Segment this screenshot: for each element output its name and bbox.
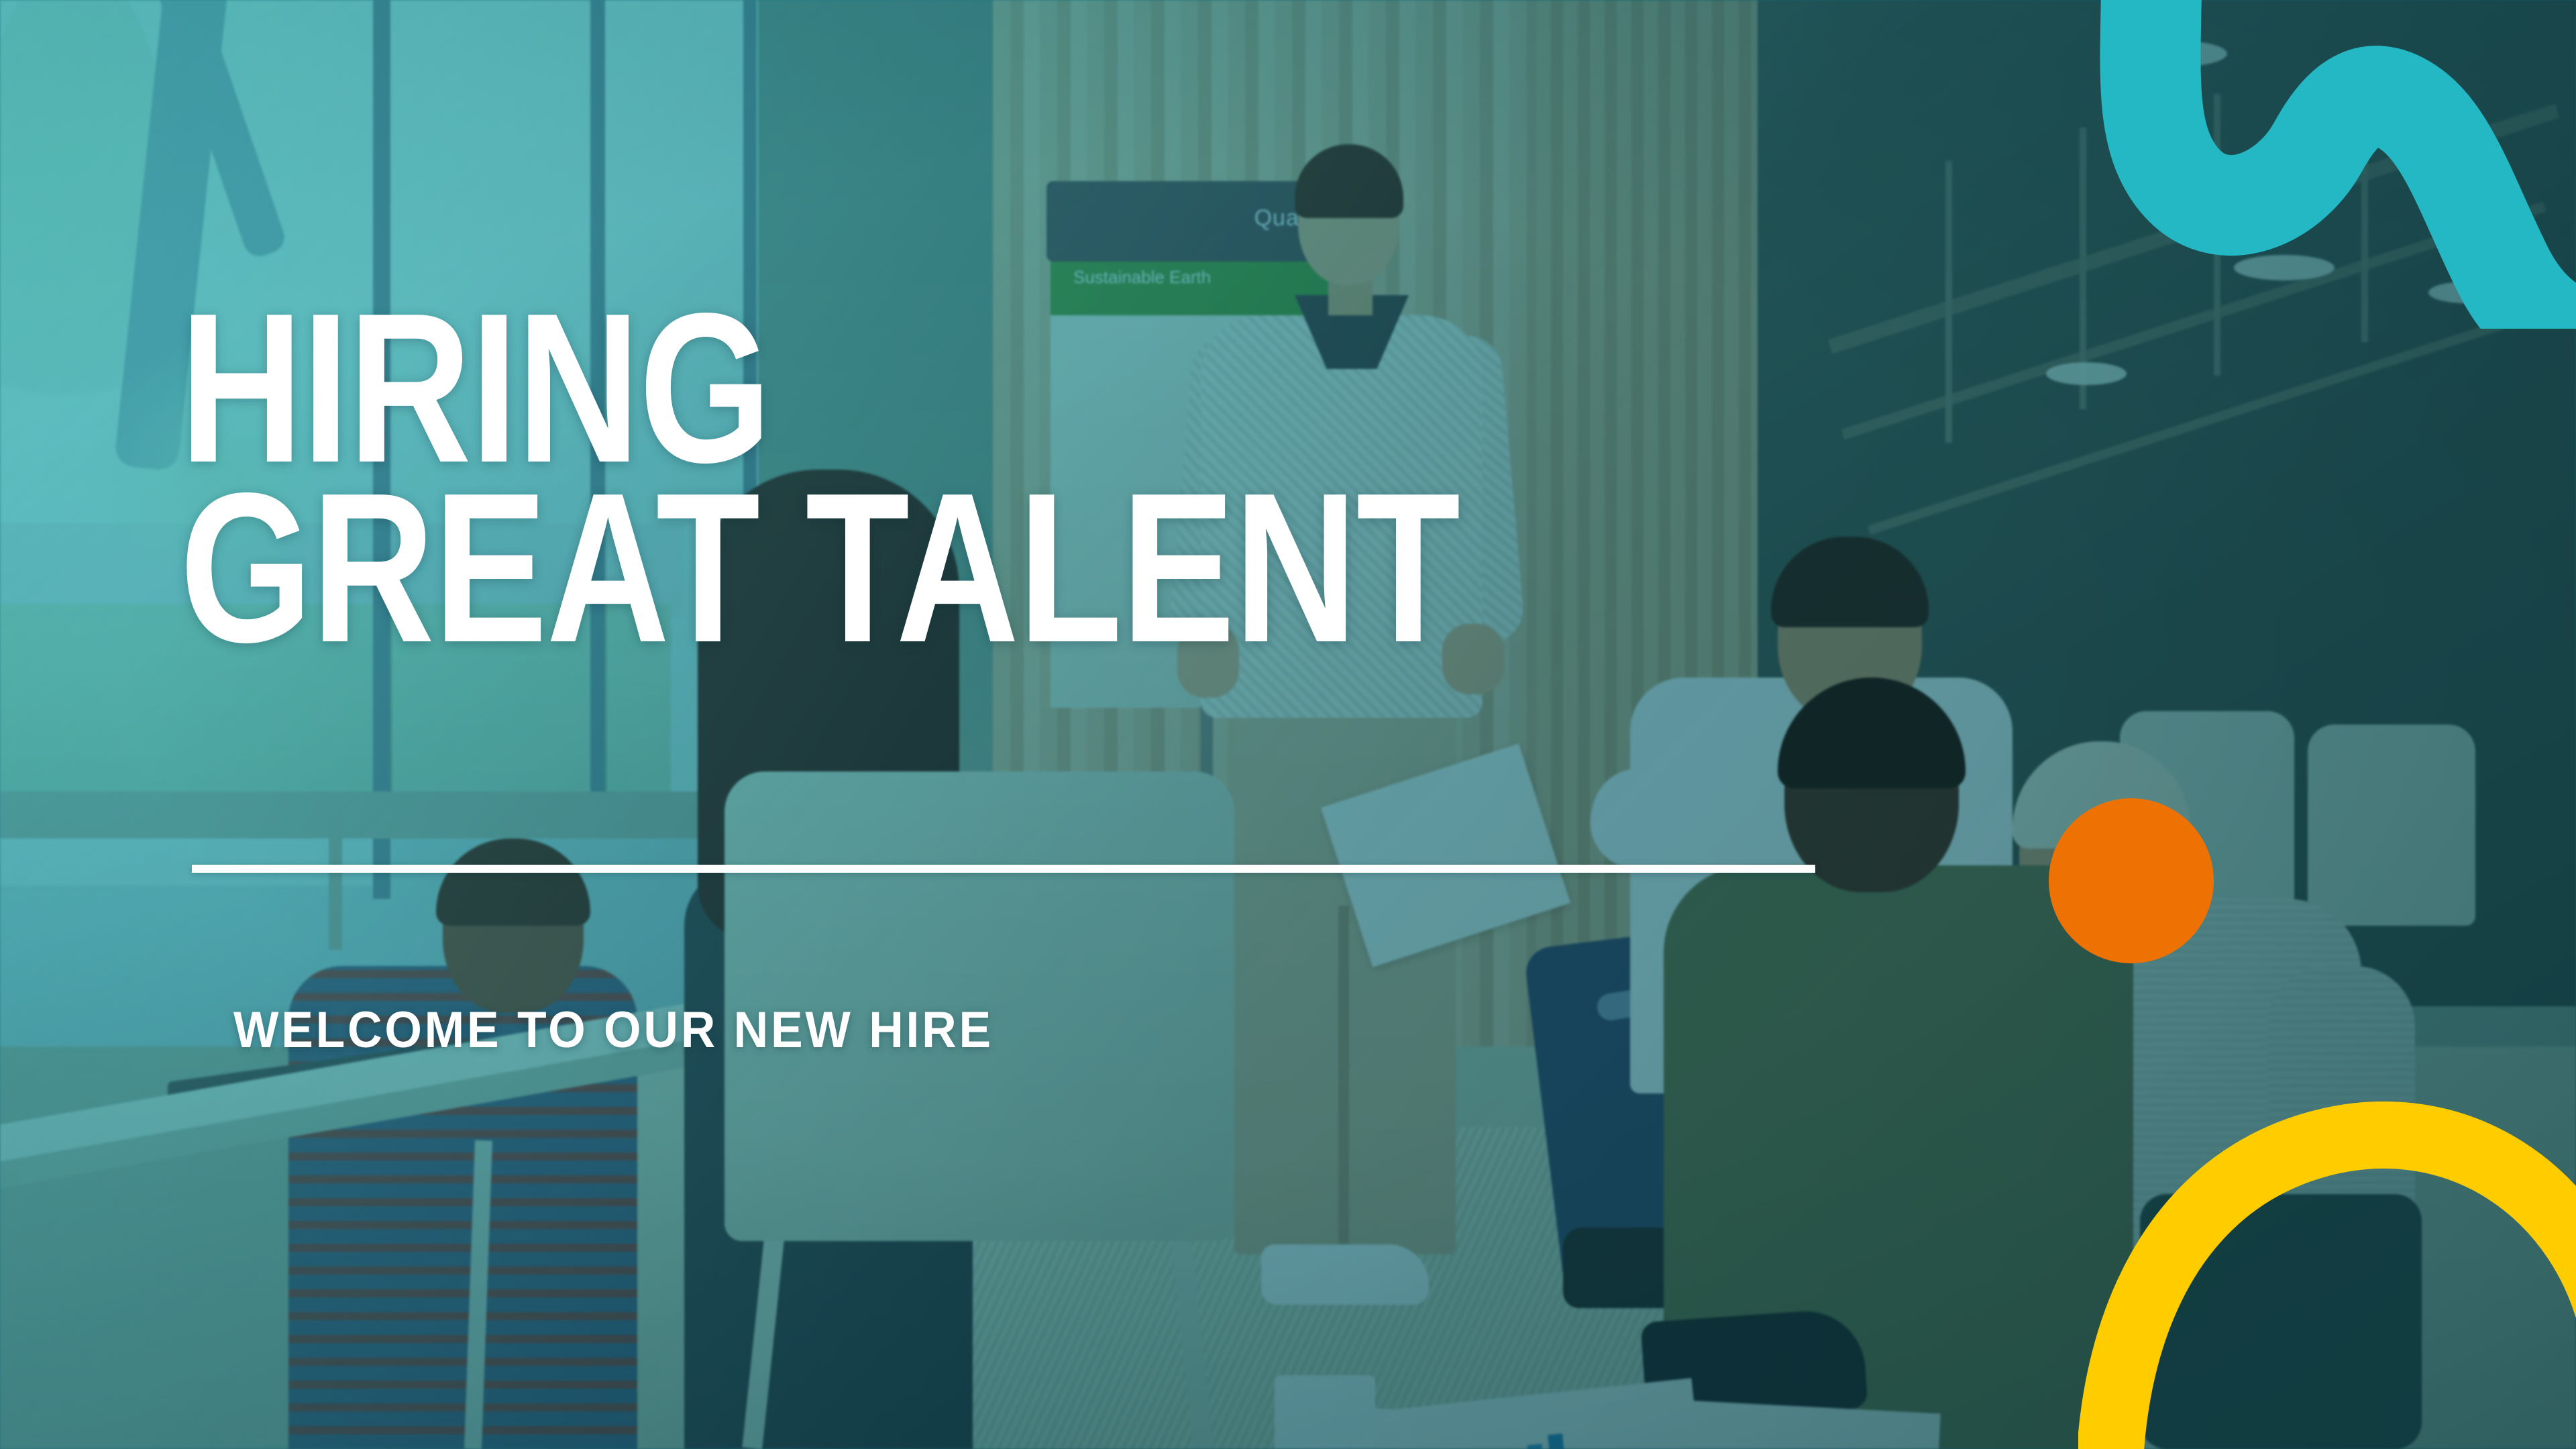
yellow-arc-icon — [2078, 1068, 2576, 1449]
subtitle: WELCOME TO OUR NEW HIRE — [233, 1001, 994, 1059]
divider-rule — [192, 865, 1815, 873]
headline-line-2: GREAT TALENT — [180, 483, 1459, 653]
hiring-banner: Sustainable Earth Quartet — [0, 0, 2576, 1449]
headline-line-1: HIRING — [180, 303, 1459, 474]
headline-block: HIRING GREAT TALENT — [180, 303, 1779, 654]
orange-circle-icon — [2049, 798, 2214, 963]
teal-squiggle-icon — [1939, 0, 2576, 329]
